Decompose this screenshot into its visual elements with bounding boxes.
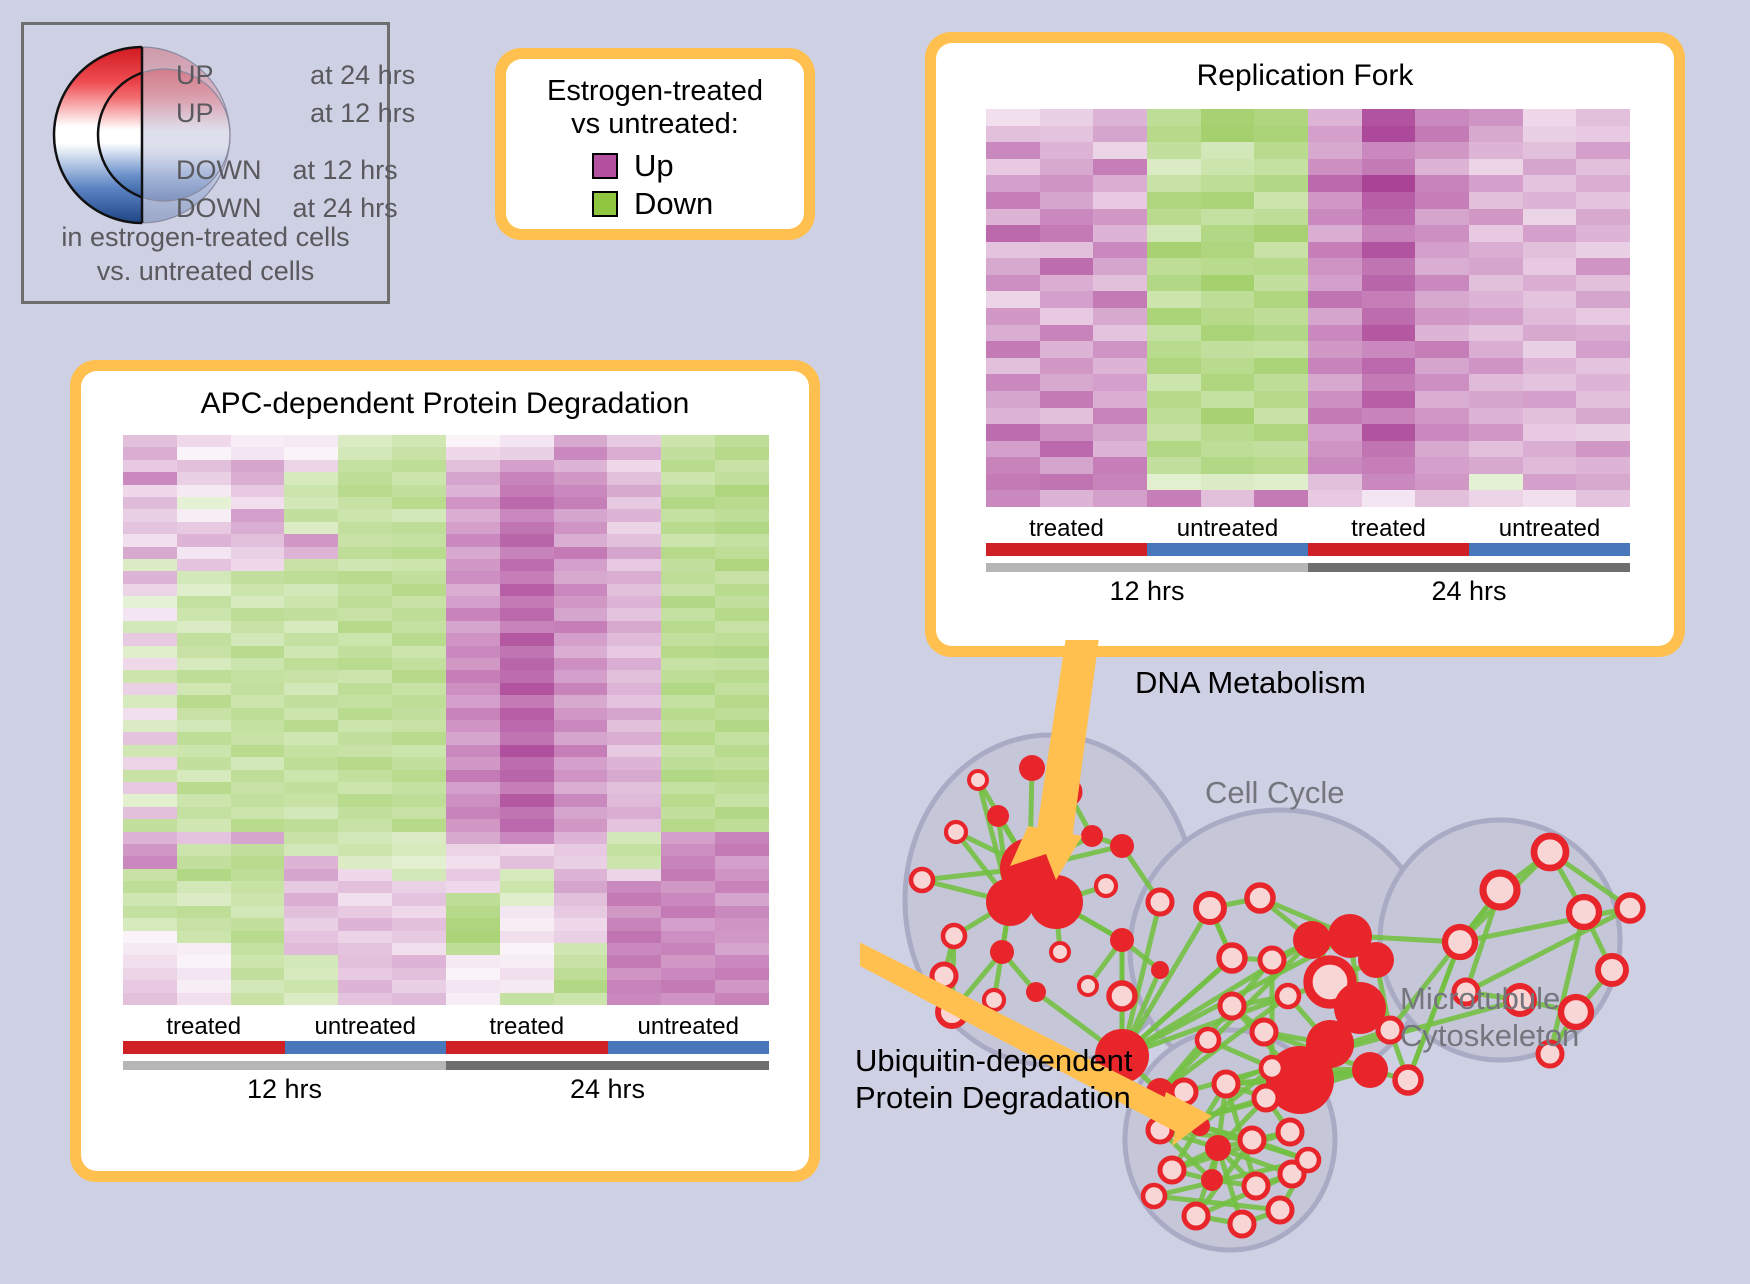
network-node[interactable]: [1214, 1072, 1238, 1096]
heatmap-cell: [177, 720, 231, 732]
heatmap-cell: [1147, 192, 1201, 209]
heatmap-cell: [392, 720, 446, 732]
network-node[interactable]: [1569, 897, 1599, 927]
heatmap-cell: [1469, 258, 1523, 275]
heatmap-cell: [1576, 325, 1630, 342]
network-node[interactable]: [1617, 895, 1643, 921]
heatmap-cell: [284, 646, 338, 658]
heatmap-cell: [338, 460, 392, 472]
heatmap-cell: [392, 732, 446, 744]
heatmap-cell: [338, 844, 392, 856]
heatmap-cell: [1308, 325, 1362, 342]
heatmap-cell: [1362, 291, 1416, 308]
heatmap-cell: [986, 175, 1040, 192]
heatmap-cell: [1308, 109, 1362, 126]
heatmap-cell: [284, 460, 338, 472]
heatmap-cell: [1415, 275, 1469, 292]
heatmap-cell: [123, 931, 177, 943]
heatmap-cell: [1093, 175, 1147, 192]
network-node[interactable]: [1445, 927, 1475, 957]
heatmap-cell: [1523, 391, 1577, 408]
heatmap-cell: [715, 522, 769, 534]
label-microtubule-line1: Microtubule: [1400, 980, 1579, 1017]
heatmap-cell: [1576, 175, 1630, 192]
heatmap-cell: [661, 832, 715, 844]
heatmap-cell: [661, 559, 715, 571]
network-node[interactable]: [1244, 1174, 1268, 1198]
heatmap-cell: [554, 869, 608, 881]
heatmap-cell: [715, 435, 769, 447]
heatmap-cell: [986, 474, 1040, 491]
heatmap-cell: [607, 559, 661, 571]
heatmap-cell: [1147, 225, 1201, 242]
heatmap-cell: [1308, 374, 1362, 391]
heatmap-cell: [607, 881, 661, 893]
label-cell-cycle: Cell Cycle: [1205, 775, 1345, 811]
heatmap-cell: [661, 547, 715, 559]
heatmap-cell: [123, 832, 177, 844]
heatmap-cell: [338, 732, 392, 744]
heatmap-cell: [446, 745, 500, 757]
heatmap-cell: [231, 509, 285, 521]
network-node[interactable]: [1261, 1057, 1283, 1079]
heatmap-cell: [446, 695, 500, 707]
heatmap-cell: [177, 485, 231, 497]
heatmap-cell: [661, 447, 715, 459]
apc-title: APC-dependent Protein Degradation: [81, 371, 809, 421]
network-node[interactable]: [986, 878, 1034, 926]
network-node[interactable]: [1197, 1029, 1219, 1051]
network-node[interactable]: [1358, 942, 1394, 978]
heatmap-cell: [123, 559, 177, 571]
heatmap-cell: [284, 794, 338, 806]
network-node[interactable]: [987, 805, 1009, 827]
timepoint-bar-0: [986, 563, 1308, 572]
heatmap-cell: [1254, 441, 1308, 458]
heatmap-cell: [177, 571, 231, 583]
heatmap-cell: [284, 571, 338, 583]
heatmap-cell: [177, 497, 231, 509]
heatmap-cell: [1254, 341, 1308, 358]
heatmap-cell: [986, 159, 1040, 176]
heatmap-cell: [1415, 209, 1469, 226]
heatmap-cell: [1201, 391, 1255, 408]
heatmap-cell: [554, 708, 608, 720]
pathway-network-diagram: DNA Metabolism Cell Cycle Microtubule Cy…: [860, 640, 1750, 1279]
network-node[interactable]: [1395, 1067, 1421, 1093]
network-node[interactable]: [1268, 1198, 1292, 1222]
network-node[interactable]: [1240, 1128, 1264, 1152]
heatmap-cell: [284, 485, 338, 497]
heatmap-cell: [446, 732, 500, 744]
heatmap-cell: [392, 782, 446, 794]
heatmap-cell: [231, 683, 285, 695]
legend-heading-line2: vs untreated:: [506, 108, 804, 141]
heatmap-cell: [1576, 142, 1630, 159]
network-node[interactable]: [1252, 1020, 1276, 1044]
heatmap-cell: [1415, 308, 1469, 325]
heatmap-cell: [123, 980, 177, 992]
heatmap-cell: [1576, 258, 1630, 275]
heatmap-cell: [1469, 175, 1523, 192]
key-label-up-24: UP: [176, 60, 213, 90]
legend-label-up: Up: [634, 148, 674, 184]
network-node[interactable]: [1151, 961, 1169, 979]
heatmap-cell: [177, 534, 231, 546]
heatmap-cell: [661, 646, 715, 658]
heatmap-cell: [338, 745, 392, 757]
heatmap-cell: [231, 893, 285, 905]
key-row-up-24: UP at 24 hrs: [176, 60, 415, 91]
heatmap-cell: [231, 472, 285, 484]
heatmap-cell: [123, 522, 177, 534]
heatmap-cell: [607, 993, 661, 1005]
heatmap-cell: [661, 757, 715, 769]
heatmap-cell: [1254, 175, 1308, 192]
network-node[interactable]: [1109, 983, 1135, 1009]
heatmap-cell: [1576, 424, 1630, 441]
heatmap-cell: [392, 856, 446, 868]
heatmap-cell: [607, 819, 661, 831]
heatmap-cell: [123, 943, 177, 955]
timepoint-label-0: 12 hrs: [123, 1074, 446, 1105]
heatmap-cell: [123, 720, 177, 732]
heatmap-cell: [123, 794, 177, 806]
heatmap-cell: [500, 708, 554, 720]
heatmap-cell: [392, 943, 446, 955]
heatmap-cell: [554, 460, 608, 472]
heatmap-cell: [607, 757, 661, 769]
heatmap-cell: [554, 695, 608, 707]
heatmap-cell: [607, 683, 661, 695]
heatmap-cell: [1362, 341, 1416, 358]
network-node[interactable]: [1026, 982, 1046, 1002]
heatmap-cell: [986, 126, 1040, 143]
network-node[interactable]: [1534, 836, 1566, 868]
network-node[interactable]: [946, 822, 966, 842]
network-node[interactable]: [911, 869, 933, 891]
heatmap-cell: [1093, 358, 1147, 375]
network-node[interactable]: [1096, 876, 1116, 896]
network-node[interactable]: [1019, 755, 1045, 781]
heatmap-cell: [500, 893, 554, 905]
network-node[interactable]: [1056, 780, 1080, 804]
network-node[interactable]: [1260, 948, 1284, 972]
heatmap-cell: [1576, 441, 1630, 458]
heatmap-cell: [338, 906, 392, 918]
heatmap-cell: [500, 993, 554, 1005]
heatmap-cell: [392, 683, 446, 695]
heatmap-cell: [1201, 441, 1255, 458]
heatmap-cell: [231, 447, 285, 459]
heatmap-cell: [1201, 275, 1255, 292]
network-node[interactable]: [1081, 825, 1103, 847]
network-node[interactable]: [1201, 1169, 1223, 1191]
heatmap-cell: [1254, 474, 1308, 491]
heatmap-cell: [1147, 490, 1201, 507]
condition-label-untreated-1: untreated: [1147, 515, 1308, 543]
heatmap-cell: [715, 869, 769, 881]
heatmap-cell: [231, 980, 285, 992]
key-label-down-12: DOWN: [176, 155, 261, 185]
heatmap-cell: [1040, 159, 1094, 176]
network-node[interactable]: [938, 998, 966, 1026]
heatmap-cell: [986, 291, 1040, 308]
heatmap-cell: [715, 708, 769, 720]
network-node[interactable]: [1219, 945, 1245, 971]
heatmap-cell: [177, 906, 231, 918]
network-node[interactable]: [1293, 921, 1331, 959]
heatmap-cell: [986, 142, 1040, 159]
heatmap-cell: [338, 955, 392, 967]
heatmap-cell: [715, 980, 769, 992]
heatmap-cell: [123, 633, 177, 645]
heatmap-cell: [1523, 474, 1577, 491]
heatmap-cell: [446, 472, 500, 484]
heatmap-cell: [1201, 308, 1255, 325]
heatmap-cell: [1040, 457, 1094, 474]
heatmap-cell: [607, 522, 661, 534]
network-node[interactable]: [943, 925, 965, 947]
condition-bar-treated-2: [1308, 543, 1469, 556]
heatmap-cell: [1523, 341, 1577, 358]
label-ubiquitin-line2: Protein Degradation: [855, 1079, 1133, 1116]
heatmap-cell: [446, 559, 500, 571]
heatmap-cell: [607, 745, 661, 757]
heatmap-cell: [177, 633, 231, 645]
heatmap-cell: [1523, 291, 1577, 308]
network-node[interactable]: [1378, 1018, 1402, 1042]
heatmap-cell: [284, 547, 338, 559]
heatmap-cell: [1469, 126, 1523, 143]
heatmap-cell: [1201, 474, 1255, 491]
heatmap-cell: [607, 621, 661, 633]
condition-label-treated-0: treated: [123, 1013, 285, 1041]
heatmap-cell: [715, 584, 769, 596]
heatmap-cell: [1415, 192, 1469, 209]
heatmap-cell: [177, 807, 231, 819]
heatmap-cell: [986, 408, 1040, 425]
heatmap-cell: [392, 832, 446, 844]
heatmap-cell: [986, 209, 1040, 226]
timepoint-bar-1: [1308, 563, 1630, 572]
heatmap-cell: [661, 794, 715, 806]
heatmap-cell: [338, 571, 392, 583]
heatmap-cell: [338, 485, 392, 497]
network-node[interactable]: [1277, 985, 1299, 1007]
heatmap-cell: [177, 893, 231, 905]
network-node[interactable]: [990, 940, 1014, 964]
network-node[interactable]: [1220, 994, 1244, 1018]
heatmap-cell: [1093, 424, 1147, 441]
heatmap-cell: [1362, 275, 1416, 292]
heatmap-cell: [1362, 391, 1416, 408]
heatmap-cell: [500, 571, 554, 583]
network-node[interactable]: [1190, 1116, 1210, 1136]
heatmap-cell: [231, 646, 285, 658]
heatmap-cell: [446, 794, 500, 806]
heatmap-cell: [1362, 126, 1416, 143]
apc-panel: APC-dependent Protein Degradation treate…: [70, 360, 820, 1182]
heatmap-cell: [1415, 126, 1469, 143]
heatmap-cell: [338, 621, 392, 633]
heatmap-cell: [1308, 308, 1362, 325]
network-node[interactable]: [1278, 1120, 1302, 1144]
heatmap-cell: [500, 782, 554, 794]
heatmap-cell: [1093, 490, 1147, 507]
network-node[interactable]: [1247, 885, 1273, 911]
network-node[interactable]: [1051, 943, 1069, 961]
heatmap-cell: [177, 447, 231, 459]
heatmap-cell: [338, 695, 392, 707]
heatmap-cell: [338, 869, 392, 881]
heatmap-cell: [500, 881, 554, 893]
heatmap-cell: [446, 571, 500, 583]
heatmap-cell: [1201, 325, 1255, 342]
network-node[interactable]: [1160, 1158, 1184, 1182]
label-microtubule-cytoskeleton: Microtubule Cytoskeleton: [1400, 980, 1579, 1054]
heatmap-cell: [123, 893, 177, 905]
heatmap-cell: [1147, 159, 1201, 176]
network-node[interactable]: [1079, 977, 1097, 995]
network-node[interactable]: [1184, 1204, 1208, 1228]
heatmap-cell: [661, 770, 715, 782]
heatmap-cell: [446, 497, 500, 509]
heatmap-cell: [231, 757, 285, 769]
heatmap-cell: [1308, 391, 1362, 408]
heatmap-cell: [231, 596, 285, 608]
heatmap-cell: [1576, 192, 1630, 209]
heatmap-cell: [392, 596, 446, 608]
legend-item-down: Down: [592, 186, 804, 222]
heatmap-cell: [500, 968, 554, 980]
heatmap-cell: [123, 646, 177, 658]
heatmap-cell: [1576, 209, 1630, 226]
heatmap-cell: [607, 547, 661, 559]
heatmap-cell: [1523, 408, 1577, 425]
heatmap-cell: [123, 708, 177, 720]
heatmap-cell: [715, 918, 769, 930]
heatmap-cell: [392, 497, 446, 509]
heatmap-cell: [392, 869, 446, 881]
heatmap-cell: [231, 819, 285, 831]
heatmap-cell: [661, 881, 715, 893]
heatmap-cell: [1308, 142, 1362, 159]
heatmap-cell: [607, 943, 661, 955]
heatmap-cell: [123, 745, 177, 757]
network-node[interactable]: [1110, 834, 1134, 858]
network-node[interactable]: [1148, 1118, 1172, 1142]
heatmap-cell: [123, 819, 177, 831]
network-node[interactable]: [1029, 875, 1083, 929]
heatmap-cell: [1093, 225, 1147, 242]
heatmap-cell: [284, 819, 338, 831]
heatmap-cell: [338, 807, 392, 819]
heatmap-cell: [1040, 225, 1094, 242]
heatmap-cell: [284, 807, 338, 819]
legend-swatch-down: [592, 191, 618, 217]
heatmap-cell: [177, 782, 231, 794]
heatmap-cell: [177, 472, 231, 484]
heatmap-cell: [554, 794, 608, 806]
network-node[interactable]: [1205, 1135, 1231, 1161]
network-node[interactable]: [932, 964, 956, 988]
network-node[interactable]: [1143, 1185, 1165, 1207]
network-node[interactable]: [1254, 1086, 1278, 1110]
heatmap-cell: [1523, 275, 1577, 292]
heatmap-cell: [392, 695, 446, 707]
heatmap-cell: [1362, 358, 1416, 375]
network-svg: [860, 640, 1750, 1279]
network-node[interactable]: [969, 771, 987, 789]
heatmap-cell: [607, 906, 661, 918]
heatmap-cell: [338, 881, 392, 893]
heatmap-cell: [1415, 109, 1469, 126]
heatmap-cell: [177, 968, 231, 980]
heatmap-cell: [500, 633, 554, 645]
network-node[interactable]: [1297, 1149, 1319, 1171]
heatmap-cell: [715, 955, 769, 967]
heatmap-cell: [1147, 126, 1201, 143]
heatmap-cell: [1254, 490, 1308, 507]
key-time-up-24: at 24 hrs: [310, 60, 415, 90]
network-node[interactable]: [1352, 1052, 1388, 1088]
heatmap-cell: [1469, 159, 1523, 176]
heatmap-cell: [338, 534, 392, 546]
heatmap-cell: [1362, 441, 1416, 458]
heatmap-cell: [661, 596, 715, 608]
network-node[interactable]: [1196, 894, 1224, 922]
heatmap-cell: [1576, 225, 1630, 242]
heatmap-cell: [392, 435, 446, 447]
heatmap-cell: [284, 497, 338, 509]
heatmap-cell: [231, 918, 285, 930]
heatmap-cell: [446, 485, 500, 497]
heatmap-cell: [177, 856, 231, 868]
heatmap-cell: [1576, 308, 1630, 325]
heatmap-cell: [607, 782, 661, 794]
network-node[interactable]: [1110, 928, 1134, 952]
heatmap-cell: [1469, 490, 1523, 507]
heatmap-cell: [284, 893, 338, 905]
heatmap-cell: [661, 584, 715, 596]
network-node[interactable]: [1172, 1080, 1196, 1104]
heatmap-cell: [1201, 374, 1255, 391]
network-node[interactable]: [1598, 956, 1626, 984]
heatmap-cell: [1254, 159, 1308, 176]
heatmap-cell: [123, 770, 177, 782]
network-node[interactable]: [1230, 1212, 1254, 1236]
heatmap-cell: [661, 906, 715, 918]
heatmap-cell: [607, 918, 661, 930]
heatmap-cell: [1308, 441, 1362, 458]
network-node[interactable]: [984, 990, 1004, 1010]
heatmap-cell: [338, 646, 392, 658]
heatmap-cell: [500, 695, 554, 707]
heatmap-cell: [1040, 242, 1094, 259]
heatmap-cell: [1254, 209, 1308, 226]
heatmap-cell: [1415, 457, 1469, 474]
heatmap-cell: [177, 732, 231, 744]
network-node[interactable]: [1483, 873, 1517, 907]
heatmap-cell: [392, 745, 446, 757]
network-node[interactable]: [1148, 890, 1172, 914]
heatmap-cell: [284, 918, 338, 930]
heatmap-cell: [1093, 341, 1147, 358]
heatmap-cell: [1469, 275, 1523, 292]
heatmap-cell: [661, 571, 715, 583]
heatmap-cell: [1362, 175, 1416, 192]
